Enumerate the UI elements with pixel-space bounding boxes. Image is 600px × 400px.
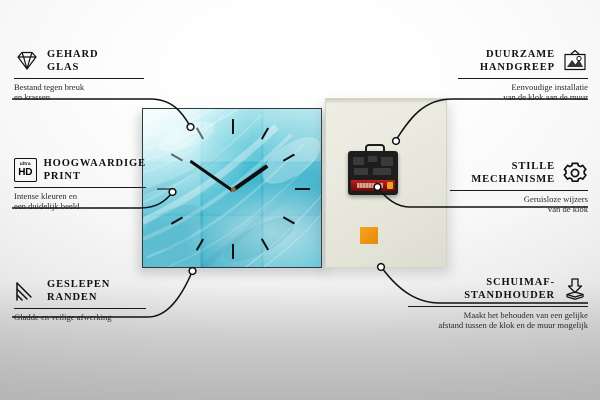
- clock-face: [142, 108, 322, 268]
- feature-heading: GESLEPEN RANDEN: [14, 278, 146, 304]
- movement-detail: [373, 168, 391, 175]
- feature-title-line1: HOOGWAARDIGE: [44, 157, 146, 170]
- feature-desc-line1: Eenvoudige installatie: [458, 82, 588, 92]
- feature-title-line2: PRINT: [44, 170, 146, 183]
- feature-description: Maakt het behouden van een gelijke afsta…: [408, 310, 588, 331]
- feature-description: Eenvoudige installatie van de klok aan d…: [458, 82, 588, 103]
- feature-heading: DUURZAME HANDGREEP: [458, 48, 588, 74]
- movement-detail: [354, 168, 368, 175]
- feature-desc-line2: van de klok aan de muur: [458, 92, 588, 102]
- feature-title: STILLE MECHANISME: [471, 160, 555, 186]
- foam-spacer-square: [360, 227, 378, 244]
- product-clock-front: [142, 108, 322, 268]
- feature-description: Bestand tegen breuk en krassen: [14, 82, 144, 103]
- feature-divider: [14, 308, 146, 309]
- feature-desc-line1: Geruisloze wijzers: [450, 194, 588, 204]
- product-clock-back: [325, 98, 447, 268]
- clock-tick-12: [232, 119, 234, 134]
- feature-title: HOOGWAARDIGE PRINT: [44, 157, 146, 183]
- feature-desc-line1: Bestand tegen breuk: [14, 82, 144, 92]
- feature-title-line2: MECHANISME: [471, 173, 555, 186]
- feature-title: GESLEPEN RANDEN: [47, 278, 110, 304]
- feature-title-line1: GESLEPEN: [47, 278, 110, 291]
- feature-title-line2: GLAS: [47, 61, 99, 74]
- movement-detail: [381, 157, 393, 166]
- feature-divider: [14, 187, 146, 188]
- movement-body: [348, 151, 398, 195]
- feature-desc-line1: Intense kleuren en: [14, 191, 146, 201]
- feature-desc-line2: afstand tussen de klok en de muur mogeli…: [408, 320, 588, 330]
- ultra-hd-badge-main: HD: [18, 168, 32, 178]
- back-panel-surface: [325, 98, 447, 268]
- feature-title: SCHUIMAF- STANDHOUDER: [408, 276, 555, 302]
- feature-heading: ultra HD HOOGWAARDIGE PRINT: [14, 157, 146, 183]
- clock-tick-6: [232, 244, 234, 259]
- feature-heading: GEHARD GLAS: [14, 48, 144, 74]
- feature-title: GEHARD GLAS: [47, 48, 99, 74]
- arrow-down-stack-icon: [562, 277, 588, 301]
- feature-desc-line2: van de klok: [450, 204, 588, 214]
- feature-title-line1: GEHARD: [47, 48, 99, 61]
- beveled-edges-icon: [14, 280, 40, 302]
- battery: [351, 180, 395, 191]
- clock-tick-9: [157, 188, 172, 190]
- feature-duurzame-handgreep[interactable]: DUURZAME HANDGREEP Eenvoudige installati…: [458, 48, 588, 103]
- feature-geslepen-randen[interactable]: GESLEPEN RANDEN Gladde en veilige afwerk…: [14, 278, 146, 322]
- feature-desc-line1: Maakt het behouden van een gelijke: [408, 310, 588, 320]
- feature-title-line2: STANDHOUDER: [408, 289, 555, 302]
- feature-divider: [408, 306, 588, 307]
- feature-desc-line2: een duidelijk beeld: [14, 201, 146, 211]
- framed-picture-hanger-icon: [562, 49, 588, 73]
- back-panel-top-edge: [326, 99, 446, 103]
- movement-detail: [368, 156, 377, 162]
- clock-hand-hub: [231, 187, 236, 192]
- feature-title-line1: STILLE: [471, 160, 555, 173]
- feature-title-line1: DUURZAME: [480, 48, 555, 61]
- feature-description: Geruisloze wijzers van de klok: [450, 194, 588, 215]
- feature-desc-line1: Gladde en veilige afwerking: [14, 312, 146, 322]
- feature-heading: SCHUIMAF- STANDHOUDER: [408, 276, 588, 302]
- feature-heading: STILLE MECHANISME: [450, 160, 588, 186]
- battery-plus-terminal: [387, 182, 393, 189]
- diamond-icon: [14, 50, 40, 72]
- movement-detail: [353, 157, 364, 165]
- feature-divider: [458, 78, 588, 79]
- feature-description: Gladde en veilige afwerking: [14, 312, 146, 322]
- clock-tick-3: [295, 188, 310, 190]
- feature-divider: [450, 190, 588, 191]
- feature-desc-line2: en krassen: [14, 92, 144, 102]
- gear-icon: [562, 161, 588, 185]
- feature-divider: [14, 78, 144, 79]
- ultra-hd-badge-icon: ultra HD: [14, 158, 37, 182]
- feature-title-line2: RANDEN: [47, 291, 110, 304]
- feature-hoogwaardige-print[interactable]: ultra HD HOOGWAARDIGE PRINT Intense kleu…: [14, 157, 146, 212]
- feature-title-line2: HANDGREEP: [480, 61, 555, 74]
- feature-title: DUURZAME HANDGREEP: [480, 48, 555, 74]
- feature-gehard-glas[interactable]: GEHARD GLAS Bestand tegen breuk en krass…: [14, 48, 144, 103]
- foam-spacer-icon: [360, 227, 378, 244]
- feature-title-line1: SCHUIMAF-: [408, 276, 555, 289]
- feature-schuimafstandhouder[interactable]: SCHUIMAF- STANDHOUDER Maakt het behouden…: [408, 276, 588, 331]
- infographic-canvas: GEHARD GLAS Bestand tegen breuk en krass…: [0, 0, 600, 400]
- battery-label: [357, 183, 383, 188]
- feature-description: Intense kleuren en een duidelijk beeld: [14, 191, 146, 212]
- quartz-movement-icon: [348, 151, 398, 195]
- feature-stille-mechanisme[interactable]: STILLE MECHANISME Geruisloze wijzers van…: [450, 160, 588, 215]
